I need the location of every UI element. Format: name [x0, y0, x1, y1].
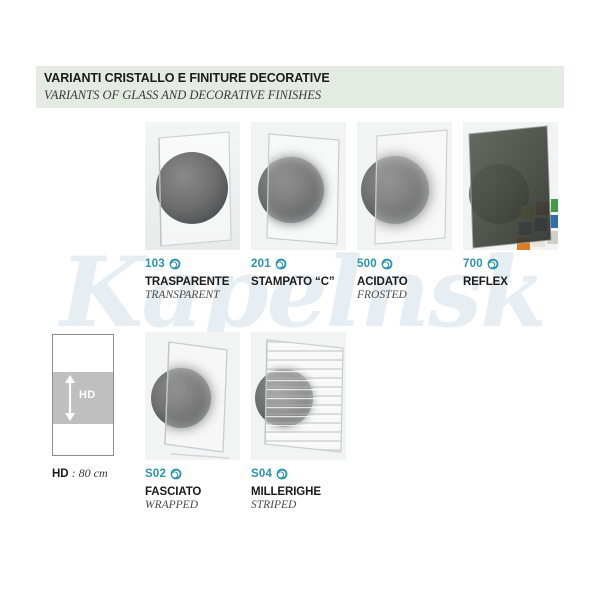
- hd-diagram: HD HD : 80 cm: [52, 334, 114, 456]
- droplet-circle-icon: [276, 468, 288, 480]
- variant-meta: 500 ACIDATO FROSTED: [357, 256, 477, 301]
- hd-caption-bold: HD: [52, 468, 69, 480]
- variant-meta: 201 STAMPATO “C”: [251, 256, 371, 289]
- variant-meta: 700 REFLEX: [463, 256, 583, 289]
- droplet-circle-icon: [169, 258, 181, 270]
- variant-code-row: 103: [145, 256, 265, 271]
- variant-code-row: 700: [463, 256, 583, 271]
- variant-meta: S02 FASCIATO WRAPPED: [145, 466, 265, 511]
- droplet-circle-icon: [275, 258, 287, 270]
- variant-name-it: TRASPARENTE: [145, 276, 265, 288]
- variant-meta: 103 TRASPARENTE TRANSPARENT: [145, 256, 265, 301]
- sample-image-transparent: [145, 122, 240, 250]
- sample-image-stampato: [251, 122, 346, 250]
- variant-name-it: STAMPATO “C”: [251, 276, 371, 288]
- sample-image-fasciato: [145, 332, 240, 460]
- variant-code-row: 500: [357, 256, 477, 271]
- sample-image-reflex: [463, 122, 558, 250]
- millerighe-glass-illustration: [251, 332, 346, 460]
- hd-inner-label: HD: [79, 389, 96, 401]
- variant-code: 500: [357, 258, 377, 270]
- variant-code: S04: [251, 468, 272, 480]
- variant-code-row: 201: [251, 256, 371, 271]
- page-root: Kapelnsk VARIANTI CRISTALLO E FINITURE D…: [0, 0, 600, 600]
- variant-name-it: MILLERIGHE: [251, 486, 371, 498]
- sample-image-acidato: [357, 122, 452, 250]
- hd-panel: HD: [52, 334, 114, 456]
- page-subtitle: VARIANTS OF GLASS AND DECORATIVE FINISHE…: [44, 88, 321, 103]
- droplet-circle-icon: [381, 258, 393, 270]
- section-header-band: VARIANTI CRISTALLO E FINITURE DECORATIVE…: [36, 66, 564, 108]
- variant-meta: S04 MILLERIGHE STRIPED: [251, 466, 371, 511]
- droplet-circle-icon: [487, 258, 499, 270]
- fasciato-glass-illustration: [145, 332, 240, 460]
- variant-name-it: ACIDATO: [357, 276, 477, 288]
- hd-caption: HD : 80 cm: [52, 466, 108, 481]
- variant-name-it: FASCIATO: [145, 486, 265, 498]
- variant-name-en: FROSTED: [357, 289, 477, 301]
- variant-code-row: S02: [145, 466, 265, 481]
- variant-code: S02: [145, 468, 166, 480]
- sample-image-millerighe: [251, 332, 346, 460]
- variant-code-row: S04: [251, 466, 371, 481]
- variant-code: 700: [463, 258, 483, 270]
- variant-name-en: WRAPPED: [145, 499, 265, 511]
- variant-name-en: TRANSPARENT: [145, 289, 265, 301]
- variant-name-it: REFLEX: [463, 276, 583, 288]
- variant-code: 103: [145, 258, 165, 270]
- hd-caption-value: : 80 cm: [69, 466, 108, 480]
- variant-name-en: STRIPED: [251, 499, 371, 511]
- acidato-glass-illustration: [357, 122, 452, 250]
- variant-code: 201: [251, 258, 271, 270]
- transparent-glass-illustration: [145, 122, 240, 250]
- reflex-glass-illustration: [463, 122, 558, 250]
- stampato-glass-illustration: [251, 122, 346, 250]
- page-title: VARIANTI CRISTALLO E FINITURE DECORATIVE: [44, 71, 330, 85]
- droplet-circle-icon: [170, 468, 182, 480]
- hd-double-arrow-icon: [64, 375, 76, 421]
